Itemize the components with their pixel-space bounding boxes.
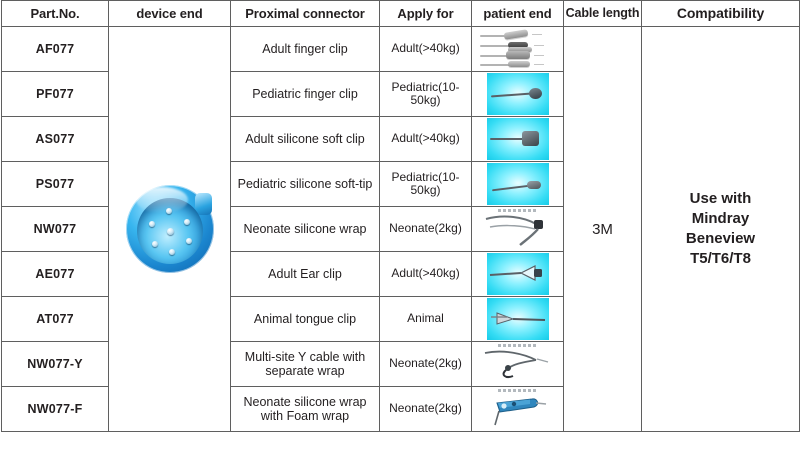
column-header-cable-length: Cable length xyxy=(564,1,642,27)
neonate-silicone-wrap-image xyxy=(480,207,556,251)
cell-part-no: NW077-F xyxy=(2,387,109,432)
cell-apply-for: Animal xyxy=(380,297,472,342)
pediatric-silicone-soft-tip-image xyxy=(487,163,549,205)
neonate-foam-wrap-image xyxy=(480,387,556,431)
cell-part-no: NW077-Y xyxy=(2,342,109,387)
blue-round-connector-icon xyxy=(122,181,218,277)
tongue-clip-drawing xyxy=(487,298,549,340)
cell-apply-for: Neonate(2kg) xyxy=(380,207,472,252)
animal-tongue-clip-image xyxy=(487,298,549,340)
cell-proximal-connector: Pediatric finger clip xyxy=(231,72,380,117)
multi-site-y-cable-image xyxy=(480,342,556,386)
cell-part-no: AF077 xyxy=(2,27,109,72)
header-row: Part.No. device end Proximal connector A… xyxy=(2,1,800,27)
column-header-patient-end: patient end xyxy=(472,1,564,27)
cell-cable-length: 3M xyxy=(564,27,642,432)
cell-apply-for: Neonate(2kg) xyxy=(380,387,472,432)
cell-apply-for: Adult(>40kg) xyxy=(380,117,472,162)
neonate-wrap-drawing xyxy=(480,207,556,247)
pediatric-finger-clip-image xyxy=(487,73,549,115)
adult-finger-clip-image xyxy=(480,28,556,70)
cell-patient-end xyxy=(472,162,564,207)
cell-part-no: PS077 xyxy=(2,162,109,207)
cell-apply-for: Adult(>40kg) xyxy=(380,252,472,297)
column-header-apply-for: Apply for xyxy=(380,1,472,27)
cell-proximal-connector: Adult silicone soft clip xyxy=(231,117,380,162)
cell-proximal-connector: Pediatric silicone soft-tip xyxy=(231,162,380,207)
adult-ear-clip-image xyxy=(487,253,549,295)
cell-proximal-connector: Neonate silicone wrap with Foam wrap xyxy=(231,387,380,432)
cell-part-no: AS077 xyxy=(2,117,109,162)
cell-device-end-connector xyxy=(109,27,231,432)
accessory-spec-table: Part.No. device end Proximal connector A… xyxy=(1,0,800,432)
spec-table-page: Part.No. device end Proximal connector A… xyxy=(0,0,800,465)
cell-apply-for: Neonate(2kg) xyxy=(380,342,472,387)
cell-part-no: NW077 xyxy=(2,207,109,252)
cell-part-no: PF077 xyxy=(2,72,109,117)
cell-proximal-connector: Animal tongue clip xyxy=(231,297,380,342)
adult-silicone-soft-clip-image xyxy=(487,118,549,160)
column-header-part-no: Part.No. xyxy=(2,1,109,27)
y-cable-drawing xyxy=(480,342,556,382)
cell-apply-for: Adult(>40kg) xyxy=(380,27,472,72)
cell-patient-end xyxy=(472,342,564,387)
column-header-proximal-connector: Proximal connector xyxy=(231,1,380,27)
cell-patient-end xyxy=(472,252,564,297)
cell-proximal-connector: Neonate silicone wrap xyxy=(231,207,380,252)
cell-proximal-connector: Multi-site Y cable with separate wrap xyxy=(231,342,380,387)
table-body: AF077 Adult finger xyxy=(2,27,800,432)
cell-apply-for: Pediatric(10-50kg) xyxy=(380,162,472,207)
cell-part-no: AT077 xyxy=(2,297,109,342)
cell-patient-end xyxy=(472,387,564,432)
table-header: Part.No. device end Proximal connector A… xyxy=(2,1,800,27)
cell-apply-for: Pediatric(10-50kg) xyxy=(380,72,472,117)
cell-patient-end xyxy=(472,207,564,252)
foam-wrap-drawing xyxy=(480,387,556,427)
cell-patient-end xyxy=(472,297,564,342)
column-header-device-end: device end xyxy=(109,1,231,27)
cell-proximal-connector: Adult finger clip xyxy=(231,27,380,72)
cell-patient-end xyxy=(472,72,564,117)
ear-clip-drawing xyxy=(487,253,549,295)
cell-proximal-connector: Adult Ear clip xyxy=(231,252,380,297)
cell-patient-end xyxy=(472,27,564,72)
cell-compatibility: Use with Mindray Beneview T5/T6/T8 xyxy=(642,27,800,432)
cell-part-no: AE077 xyxy=(2,252,109,297)
column-header-compatibility: Compatibility xyxy=(642,1,800,27)
cell-patient-end xyxy=(472,117,564,162)
table-row: AF077 Adult finger xyxy=(2,27,800,72)
